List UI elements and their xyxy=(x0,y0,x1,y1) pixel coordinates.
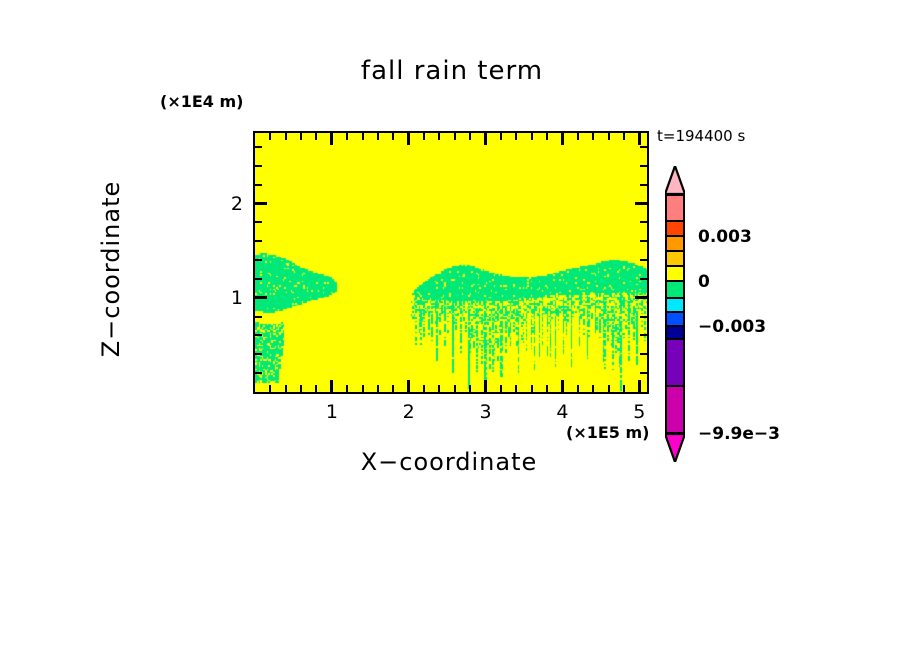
y-tick-left xyxy=(255,146,262,148)
x-tick-top xyxy=(623,133,625,140)
y-tick-left xyxy=(255,202,267,205)
x-tick-bottom xyxy=(377,385,379,392)
x-axis-title: X−coordinate xyxy=(253,448,645,476)
y-tick-left xyxy=(255,165,262,167)
x-tick-bottom xyxy=(454,385,456,392)
y-axis-title: Z−coordinate xyxy=(97,139,125,399)
x-tick-bottom xyxy=(608,385,610,392)
x-tick-bottom xyxy=(438,385,440,392)
y-tick-left xyxy=(255,240,262,242)
colorbar-band-green xyxy=(665,282,685,299)
y-tick-left xyxy=(255,372,262,374)
x-tick-bottom xyxy=(330,380,333,392)
x-tick-top xyxy=(546,133,548,140)
x-tick-top xyxy=(407,133,410,145)
x-tick-bottom xyxy=(546,385,548,392)
x-tick-top xyxy=(484,133,487,145)
y-tick-right xyxy=(640,221,647,223)
colorbar-band-cyan xyxy=(665,299,685,313)
y-axis-unit-label: (×1E4 m) xyxy=(160,92,243,111)
colorbar-band-orange-red xyxy=(665,222,685,237)
x-tick-bottom xyxy=(269,385,271,392)
y-tick-right xyxy=(640,165,647,167)
x-tick-bottom xyxy=(423,385,425,392)
colorbar-band-pink xyxy=(665,194,685,222)
colorbar-tick-label: 0 xyxy=(698,272,710,292)
x-tick-bottom xyxy=(469,385,471,392)
page-title: fall rain term xyxy=(0,56,904,86)
x-tick-top xyxy=(330,133,333,145)
x-tick-bottom xyxy=(484,380,487,392)
colorbar-band-orange xyxy=(665,237,685,252)
x-tick-top xyxy=(269,133,271,140)
y-tick-left xyxy=(255,184,262,186)
x-tick-bottom xyxy=(561,380,564,392)
y-tick-left xyxy=(255,316,262,318)
x-tick-top xyxy=(377,133,379,140)
colorbar-band-blue xyxy=(665,313,685,327)
colorbar-tick-label: 0.003 xyxy=(698,227,752,247)
x-tick-top xyxy=(608,133,610,140)
colorbar-band-navy xyxy=(665,327,685,340)
x-tick-bottom xyxy=(500,385,502,392)
x-tick-top xyxy=(300,133,302,140)
colorbar-arrow-bottom xyxy=(665,434,685,462)
y-tick-right xyxy=(640,353,647,355)
y-tick-right xyxy=(640,184,647,186)
x-tick-top xyxy=(500,133,502,140)
x-tick-top xyxy=(346,133,348,140)
x-tick-top xyxy=(515,133,517,140)
colorbar-band-purple xyxy=(665,340,685,387)
colorbar-band-yellow xyxy=(665,267,685,282)
x-tick-bottom xyxy=(300,385,302,392)
x-tick-bottom xyxy=(392,385,394,392)
x-tick-top xyxy=(469,133,471,140)
x-tick-bottom xyxy=(577,385,579,392)
colorbar-tick-label: −9.9e−3 xyxy=(698,424,780,444)
y-tick-right xyxy=(640,334,647,336)
y-tick-right xyxy=(640,316,647,318)
x-tick-label: 3 xyxy=(466,401,506,423)
x-tick-bottom xyxy=(531,385,533,392)
y-tick-right xyxy=(640,240,647,242)
x-axis-unit-label: (×1E5 m) xyxy=(566,423,649,442)
x-tick-label: 5 xyxy=(619,401,659,423)
x-tick-bottom xyxy=(592,385,594,392)
y-tick-right xyxy=(640,278,647,280)
x-tick-top xyxy=(638,133,641,145)
x-tick-top xyxy=(423,133,425,140)
y-tick-right xyxy=(640,146,647,148)
y-tick-right xyxy=(635,202,647,205)
plot-area xyxy=(253,131,649,394)
x-tick-top xyxy=(315,133,317,140)
colorbar-band-amber xyxy=(665,252,685,267)
x-tick-top xyxy=(592,133,594,140)
colorbar-band-magenta xyxy=(665,387,685,434)
x-tick-top xyxy=(362,133,364,140)
x-tick-top xyxy=(577,133,579,140)
colorbar-tick-label: −0.003 xyxy=(698,317,766,337)
x-tick-top xyxy=(285,133,287,140)
colorbar-arrow-top xyxy=(665,166,685,194)
x-tick-bottom xyxy=(362,385,364,392)
x-tick-label: 1 xyxy=(312,401,352,423)
y-tick-right xyxy=(640,259,647,261)
x-tick-bottom xyxy=(407,380,410,392)
x-tick-bottom xyxy=(285,385,287,392)
timestamp-label: t=194400 s xyxy=(657,127,745,145)
y-tick-label: 1 xyxy=(203,287,243,309)
y-tick-label: 2 xyxy=(203,193,243,215)
x-tick-bottom xyxy=(623,385,625,392)
x-tick-bottom xyxy=(315,385,317,392)
y-tick-left xyxy=(255,259,262,261)
x-tick-top xyxy=(531,133,533,140)
x-tick-bottom xyxy=(638,380,641,392)
y-tick-right xyxy=(635,296,647,299)
x-tick-top xyxy=(561,133,564,145)
contour-field xyxy=(255,133,647,392)
y-tick-left xyxy=(255,278,262,280)
x-tick-top xyxy=(454,133,456,140)
x-tick-top xyxy=(392,133,394,140)
x-tick-top xyxy=(438,133,440,140)
y-tick-left xyxy=(255,353,262,355)
y-tick-left xyxy=(255,221,262,223)
y-tick-left xyxy=(255,296,267,299)
x-tick-label: 2 xyxy=(389,401,429,423)
x-tick-bottom xyxy=(515,385,517,392)
y-tick-left xyxy=(255,334,262,336)
x-tick-bottom xyxy=(346,385,348,392)
x-tick-label: 4 xyxy=(542,401,582,423)
y-tick-right xyxy=(640,372,647,374)
